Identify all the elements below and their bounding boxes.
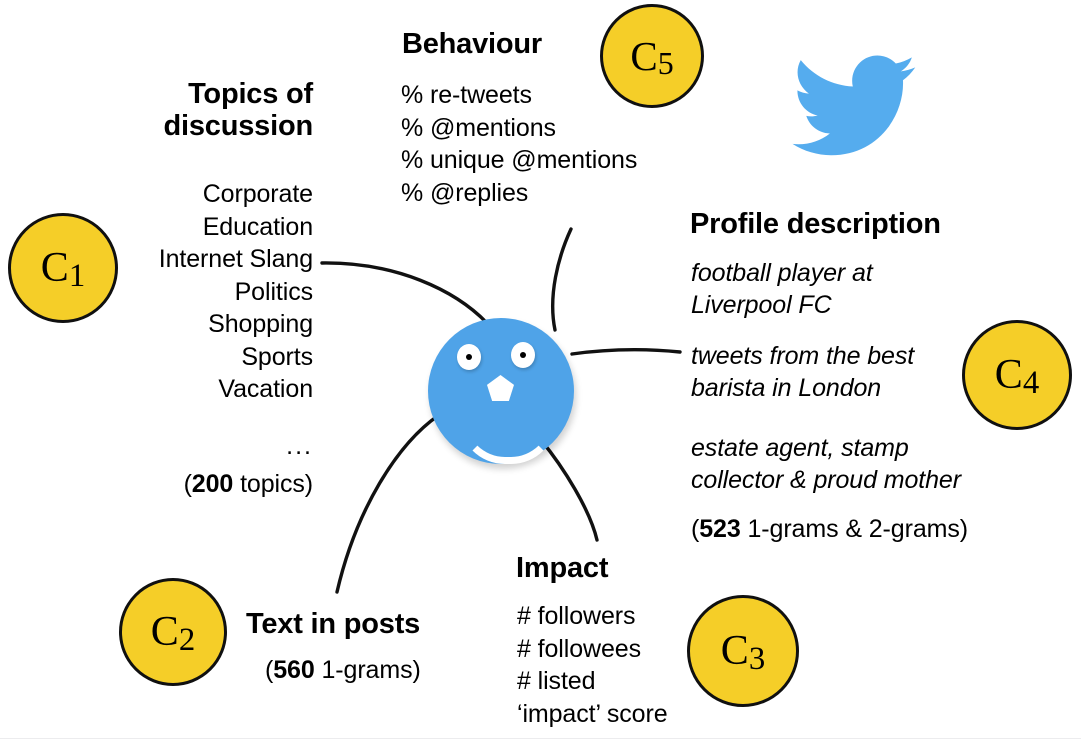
- posts-count-label: 1-grams): [315, 656, 421, 684]
- profile-example-3-line-1: estate agent, stamp: [691, 432, 961, 464]
- cluster-label-c4: C4: [995, 354, 1039, 396]
- profile-example-3: estate agent, stamp collector & proud mo…: [691, 432, 961, 496]
- twitter-bird-icon: [792, 52, 916, 158]
- topics-list-item: Education: [53, 211, 313, 244]
- behaviour-list-item: % re-tweets: [401, 79, 637, 112]
- topics-list-item: Corporate: [53, 178, 313, 211]
- profile-count-open: (: [691, 515, 699, 543]
- topics-heading-line-2: discussion: [53, 110, 313, 142]
- connector-profile: [572, 350, 680, 354]
- connector-topics: [322, 263, 487, 323]
- topics-list-item: Vacation: [53, 373, 313, 406]
- bottom-divider: [0, 738, 1081, 739]
- profile-example-1-line-1: football player at: [691, 257, 873, 289]
- posts-count-number: 560: [273, 656, 314, 684]
- user-avatar-face: [428, 318, 574, 464]
- impact-list-item: # listed: [517, 665, 668, 698]
- behaviour-list-item: % unique @mentions: [401, 144, 637, 177]
- topics-heading-line-1: Topics of: [53, 78, 313, 110]
- connector-posts: [337, 415, 439, 592]
- posts-count-open: (: [265, 656, 273, 684]
- topics-count-open: (: [184, 470, 192, 498]
- profile-count: (523 1-grams & 2-grams): [691, 515, 968, 544]
- cluster-label-c2: C2: [151, 611, 195, 653]
- topics-list-item: Politics: [53, 276, 313, 309]
- text-in-posts-count: (560 1-grams): [265, 656, 421, 685]
- face-nose: [487, 375, 514, 401]
- profile-example-2: tweets from the best barista in London: [691, 340, 914, 404]
- topics-count: (200 topics): [33, 470, 313, 499]
- topics-list-item: Sports: [53, 341, 313, 374]
- impact-list-item: ‘impact’ score: [517, 698, 668, 731]
- behaviour-heading: Behaviour: [402, 28, 542, 60]
- cluster-badge-c4[interactable]: C4: [962, 320, 1072, 430]
- topics-count-number: 200: [192, 470, 233, 498]
- impact-list-item: # followees: [517, 633, 668, 666]
- topics-count-label: topics): [233, 470, 313, 498]
- profile-count-number: 523: [699, 515, 740, 543]
- profile-example-2-line-2: barista in London: [691, 372, 914, 404]
- profile-example-1: football player at Liverpool FC: [691, 257, 873, 321]
- topics-list-item: Internet Slang: [53, 243, 313, 276]
- cluster-badge-c3[interactable]: C3: [687, 595, 799, 707]
- behaviour-list: % re-tweets % @mentions % unique @mentio…: [401, 79, 637, 209]
- behaviour-list-item: % @mentions: [401, 112, 637, 145]
- profile-example-3-line-2: collector & proud mother: [691, 464, 961, 496]
- impact-heading: Impact: [516, 552, 608, 584]
- face-right-eye: [511, 342, 535, 368]
- cluster-label-c5: C5: [630, 36, 673, 77]
- behaviour-list-item: % @replies: [401, 177, 637, 210]
- cluster-label-c3: C3: [721, 630, 765, 672]
- topics-list-item: Shopping: [53, 308, 313, 341]
- diagram-canvas: C1 C2 C3 C4 C5 Topics of discussion Corp…: [0, 0, 1081, 746]
- topics-ellipsis: ...: [53, 432, 313, 461]
- cluster-badge-c2[interactable]: C2: [119, 578, 227, 686]
- face-left-eye: [457, 344, 481, 370]
- profile-example-1-line-2: Liverpool FC: [691, 289, 873, 321]
- connector-impact: [541, 440, 597, 540]
- profile-description-heading: Profile description: [690, 208, 941, 240]
- profile-count-label: 1-grams & 2-grams): [741, 515, 968, 543]
- connector-behaviour: [553, 229, 571, 330]
- face-smile: [459, 410, 557, 464]
- text-in-posts-heading: Text in posts: [246, 608, 420, 640]
- profile-example-2-line-1: tweets from the best: [691, 340, 914, 372]
- topics-heading: Topics of discussion: [53, 78, 313, 143]
- impact-list-item: # followers: [517, 600, 668, 633]
- topics-list: Corporate Education Internet Slang Polit…: [53, 178, 313, 406]
- impact-list: # followers # followees # listed ‘impact…: [517, 600, 668, 730]
